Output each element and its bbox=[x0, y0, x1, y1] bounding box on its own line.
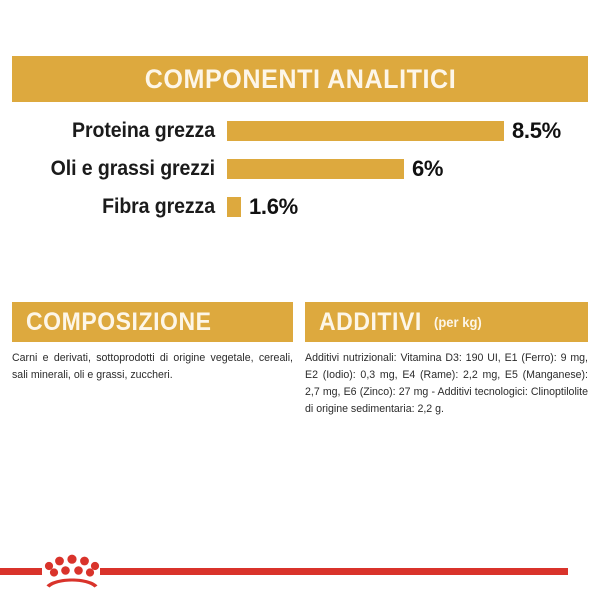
chart-bar-track: 8.5% bbox=[227, 121, 596, 141]
additives-header: ADDITIVI (per kg) bbox=[305, 302, 588, 342]
additives-subtitle: (per kg) bbox=[434, 314, 482, 330]
composition-body-text: Carni e derivati, sottoprodotti di origi… bbox=[12, 350, 293, 384]
additives-title: ADDITIVI bbox=[319, 310, 422, 335]
composition-title: COMPOSIZIONE bbox=[26, 310, 212, 335]
footer-rule-left bbox=[0, 568, 42, 575]
chart-row-label: Fibra grezza bbox=[24, 195, 215, 219]
chart-bar-value: 8.5% bbox=[512, 118, 561, 144]
chart-bar-value: 6% bbox=[412, 156, 443, 182]
chart-row: Proteina grezza 8.5% bbox=[0, 112, 600, 150]
chart-bar bbox=[227, 197, 241, 217]
composition-header: COMPOSIZIONE bbox=[12, 302, 293, 342]
analytical-components-header: COMPONENTI ANALITICI bbox=[12, 56, 588, 102]
nutrition-label-page: COMPONENTI ANALITICI Proteina grezza 8.5… bbox=[0, 0, 600, 600]
footer-rule-right bbox=[100, 568, 568, 575]
chart-bar-track: 1.6% bbox=[227, 197, 596, 217]
royal-canin-crown-logo bbox=[44, 552, 100, 590]
chart-bar-value: 1.6% bbox=[249, 194, 298, 220]
chart-row: Oli e grassi grezzi 6% bbox=[0, 150, 600, 188]
chart-row: Fibra grezza 1.6% bbox=[0, 188, 600, 226]
chart-row-label: Proteina grezza bbox=[24, 119, 215, 143]
analytical-components-title: COMPONENTI ANALITICI bbox=[144, 66, 456, 93]
brand-footer bbox=[0, 552, 600, 592]
chart-bar bbox=[227, 159, 404, 179]
analytical-components-chart: Proteina grezza 8.5% Oli e grassi grezzi… bbox=[0, 112, 600, 226]
additives-body-text: Additivi nutrizionali: Vitamina D3: 190 … bbox=[305, 350, 588, 419]
chart-bar bbox=[227, 121, 504, 141]
chart-bar-track: 6% bbox=[227, 159, 596, 179]
chart-row-label: Oli e grassi grezzi bbox=[24, 157, 215, 181]
